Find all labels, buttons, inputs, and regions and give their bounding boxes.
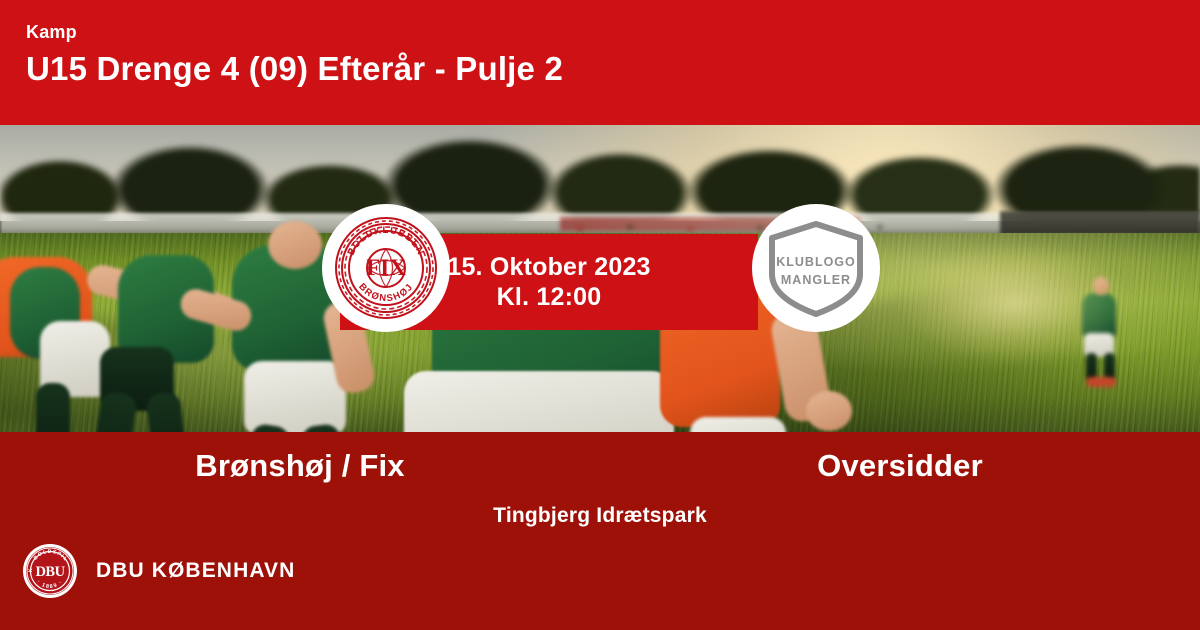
photo-player-opponent-hand: [806, 391, 852, 431]
bk-fix-crest-icon: BOLDKLUBBEN BRØNSHØJ FIX: [331, 213, 441, 323]
photo-distant-cone: [1086, 377, 1116, 387]
away-team-logo: KLUBLOGO MANGLER: [752, 204, 880, 332]
home-team-logo: BOLDKLUBBEN BRØNSHØJ FIX: [322, 204, 450, 332]
header-kicker: Kamp: [26, 22, 1200, 42]
match-venue: Tingbjerg Idrætspark: [0, 504, 1200, 528]
dbu-roundel-monogram: DBU: [35, 564, 65, 580]
photo-player-main-shorts: [404, 371, 674, 432]
photo-player-c-head: [268, 221, 322, 269]
photo-hoarding-dark: [1000, 211, 1200, 235]
away-logo-line1: KLUBLOGO: [776, 255, 856, 269]
match-date: 15. Oktober 2023: [447, 252, 650, 282]
home-logo-monogram: FIX: [366, 255, 406, 280]
photo-player-left-leg: [36, 383, 70, 432]
team-names-row: Brønshøj / Fix Oversidder: [0, 446, 1200, 486]
dbu-roundel-icon: DANSK · BOLDSPIL · UNION · 1889 · DBU: [22, 543, 78, 599]
photo-player-c-shorts: [244, 361, 346, 432]
home-team-name: Brønshøj / Fix: [0, 446, 600, 486]
poster-footer: Brønshøj / Fix Oversidder Tingbjerg Idræ…: [0, 432, 1200, 630]
away-team-name: Oversidder: [600, 446, 1200, 486]
match-poster: Kamp U15 Drenge 4 (09) Efterår - Pulje 2: [0, 0, 1200, 630]
brand-lockup: DANSK · BOLDSPIL · UNION · 1889 · DBU DB…: [22, 543, 295, 599]
away-logo-line2: MANGLER: [781, 273, 851, 287]
match-time: Kl. 12:00: [497, 282, 602, 312]
klublogo-mangler-shield-icon: KLUBLOGO MANGLER: [764, 216, 868, 320]
brand-name: DBU KØBENHAVN: [96, 559, 295, 583]
photo-sun-flare: [900, 243, 1130, 363]
home-logo-bottom-arc: BRØNSHØJ: [356, 281, 416, 304]
page-title: U15 Drenge 4 (09) Efterår - Pulje 2: [26, 50, 1200, 88]
poster-header: Kamp U15 Drenge 4 (09) Efterår - Pulje 2: [0, 0, 1200, 125]
photo-player-opponent-shorts: [690, 417, 786, 432]
